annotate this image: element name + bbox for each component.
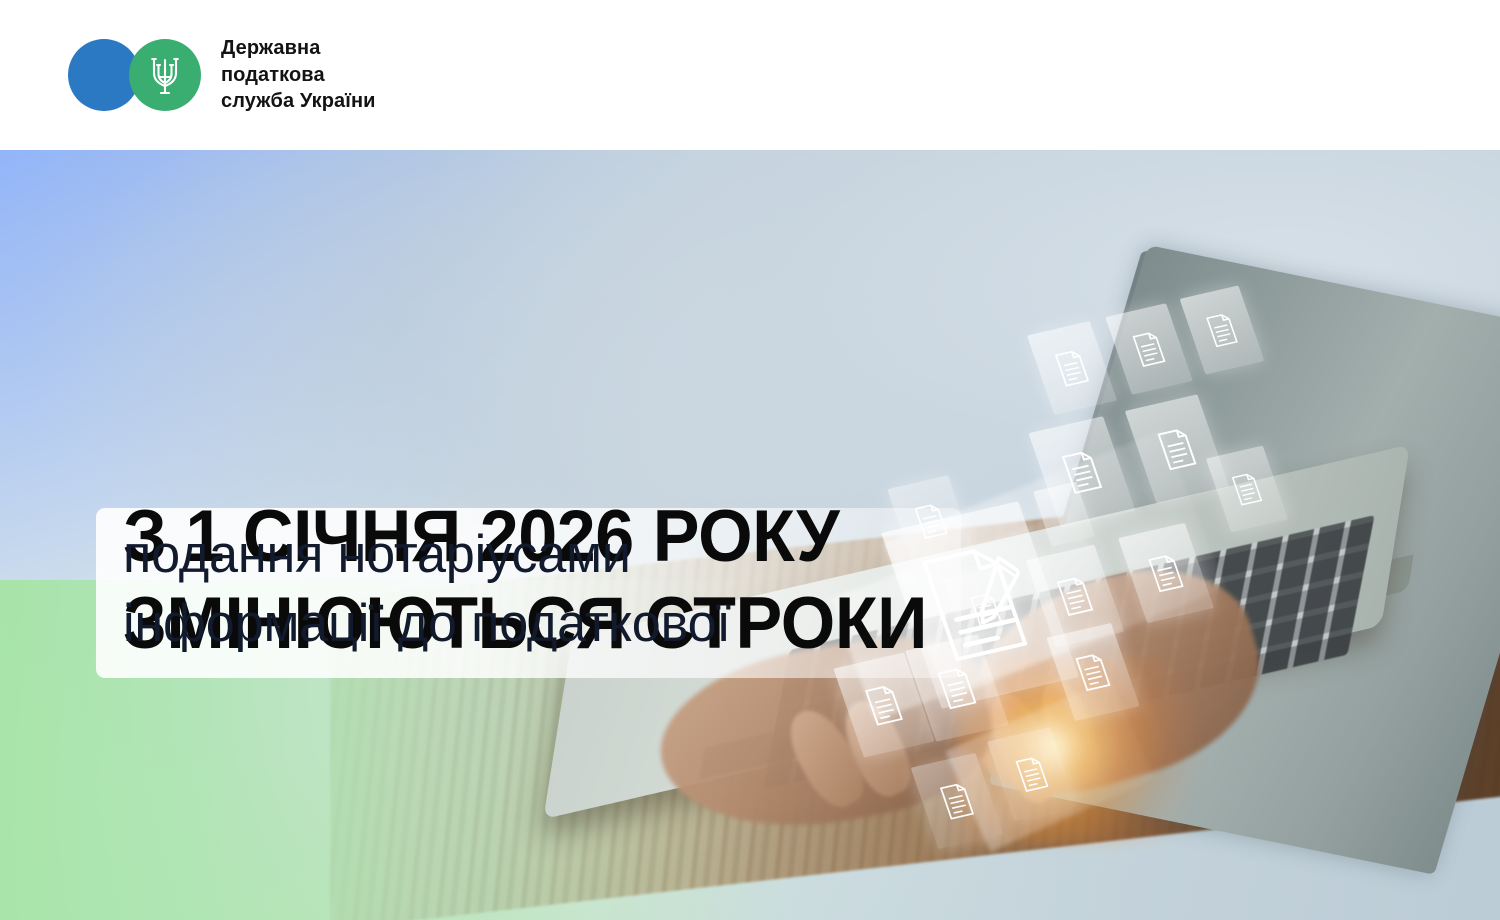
ukraine-trident-icon [146,53,184,98]
document-icon [1146,552,1187,594]
document-icon [1154,426,1199,473]
logo-marks [68,39,201,111]
document-card [1206,446,1288,533]
document-icon [968,591,1005,629]
document-icon [1229,471,1264,508]
subtitle: подання нотаріусами інформації до податк… [123,521,731,659]
document-icon [862,683,905,728]
agency-logo: Державна податкова служба України [68,35,376,115]
header-bar: Державна податкова служба України [0,0,1500,150]
hero-image: З 1 СІЧНЯ 2026 РОКУ ЗМІНЮЮТЬСЯ СТРОКИ по… [0,150,1500,920]
document-icon [1054,574,1096,618]
agency-name: Державна податкова служба України [221,35,376,115]
promo-banner: Державна податкова служба України [0,0,1500,920]
document-card [1027,321,1117,415]
document-icon [1204,311,1241,349]
document-card [1180,285,1265,374]
document-card [1105,303,1192,395]
document-icon [1130,329,1168,368]
document-icon [1052,348,1091,388]
